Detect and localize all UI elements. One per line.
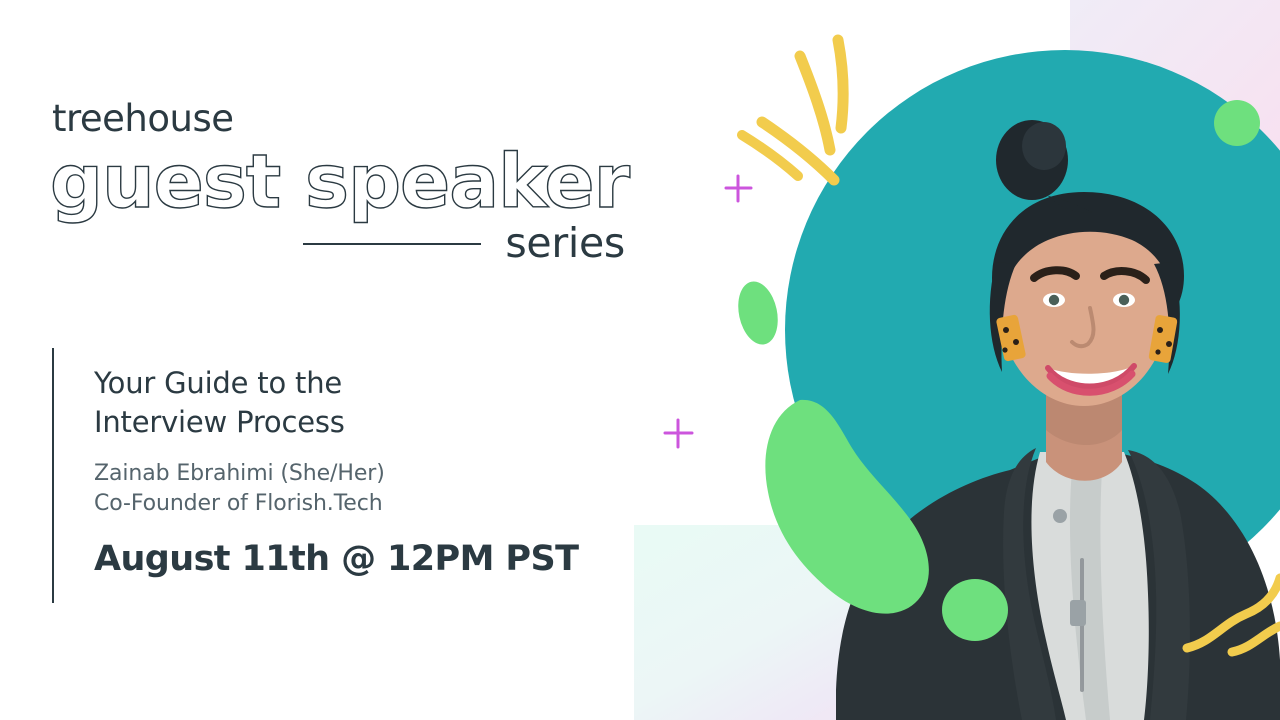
series-row: series — [50, 223, 625, 264]
brand-name: treehouse — [52, 100, 650, 137]
series-divider — [303, 243, 481, 245]
talk-title: Your Guide to the Interview Process — [94, 364, 434, 441]
plus-mark-upper — [726, 176, 751, 201]
green-blob-small — [733, 278, 783, 349]
series-label: series — [505, 223, 625, 264]
green-dot — [942, 579, 1008, 641]
speaker-name: Zainab Ebrahimi (She/Her) — [94, 459, 578, 489]
headline-outlined: guest speaker — [50, 143, 650, 221]
speaker-role: Co-Founder of Florish.Tech — [94, 489, 578, 519]
event-info-block: Your Guide to the Interview Process Zain… — [52, 348, 578, 603]
promo-slide: treehouse guest speaker series Your Guid… — [0, 0, 1280, 720]
yellow-sparkle-strokes — [742, 40, 843, 180]
green-circle-top — [1214, 100, 1260, 146]
plus-mark-lower — [665, 420, 692, 447]
brand-block: treehouse guest speaker series — [50, 100, 650, 264]
event-datetime: August 11th @ 12PM PST — [94, 542, 578, 577]
